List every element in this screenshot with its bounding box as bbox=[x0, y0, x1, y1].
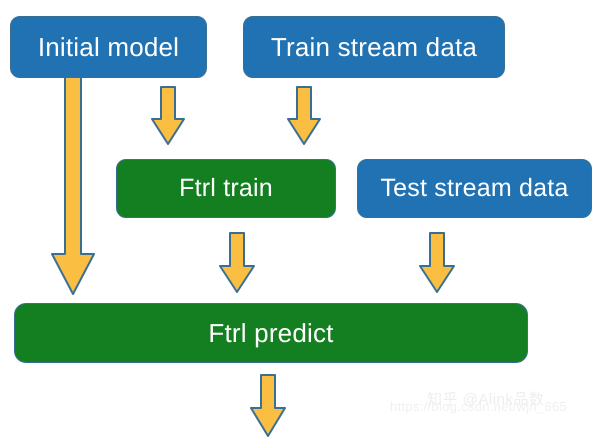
node-test-stream-data-label: Test stream data bbox=[380, 176, 568, 201]
arrow-initial-model-to-ftrl-train bbox=[150, 86, 186, 146]
arrow-initial-model-to-ftrl-predict bbox=[50, 76, 96, 296]
arrow-ftrl-predict-to-output bbox=[248, 374, 288, 438]
arrow-ftrl-train-to-ftrl-predict bbox=[218, 232, 256, 294]
node-ftrl-predict-label: Ftrl predict bbox=[208, 320, 333, 346]
node-train-stream-data[interactable]: Train stream data bbox=[243, 16, 505, 78]
node-ftrl-train[interactable]: Ftrl train bbox=[116, 159, 336, 218]
node-ftrl-predict[interactable]: Ftrl predict bbox=[14, 303, 528, 363]
watermark-csdn: https://blog.csdn.net/wjn_665 bbox=[390, 400, 567, 413]
node-ftrl-train-label: Ftrl train bbox=[179, 176, 273, 201]
node-initial-model-label: Initial model bbox=[38, 34, 179, 60]
node-test-stream-data[interactable]: Test stream data bbox=[357, 159, 592, 218]
arrow-train-stream-data-to-ftrl-train bbox=[286, 86, 322, 146]
node-train-stream-data-label: Train stream data bbox=[271, 34, 477, 60]
node-initial-model[interactable]: Initial model bbox=[10, 16, 207, 78]
diagram-canvas: Initial model Train stream data Ftrl tra… bbox=[0, 0, 606, 434]
arrow-test-stream-data-to-ftrl-predict bbox=[418, 232, 456, 294]
watermark-zhihu: 知乎 @Alink品数 bbox=[427, 392, 544, 407]
